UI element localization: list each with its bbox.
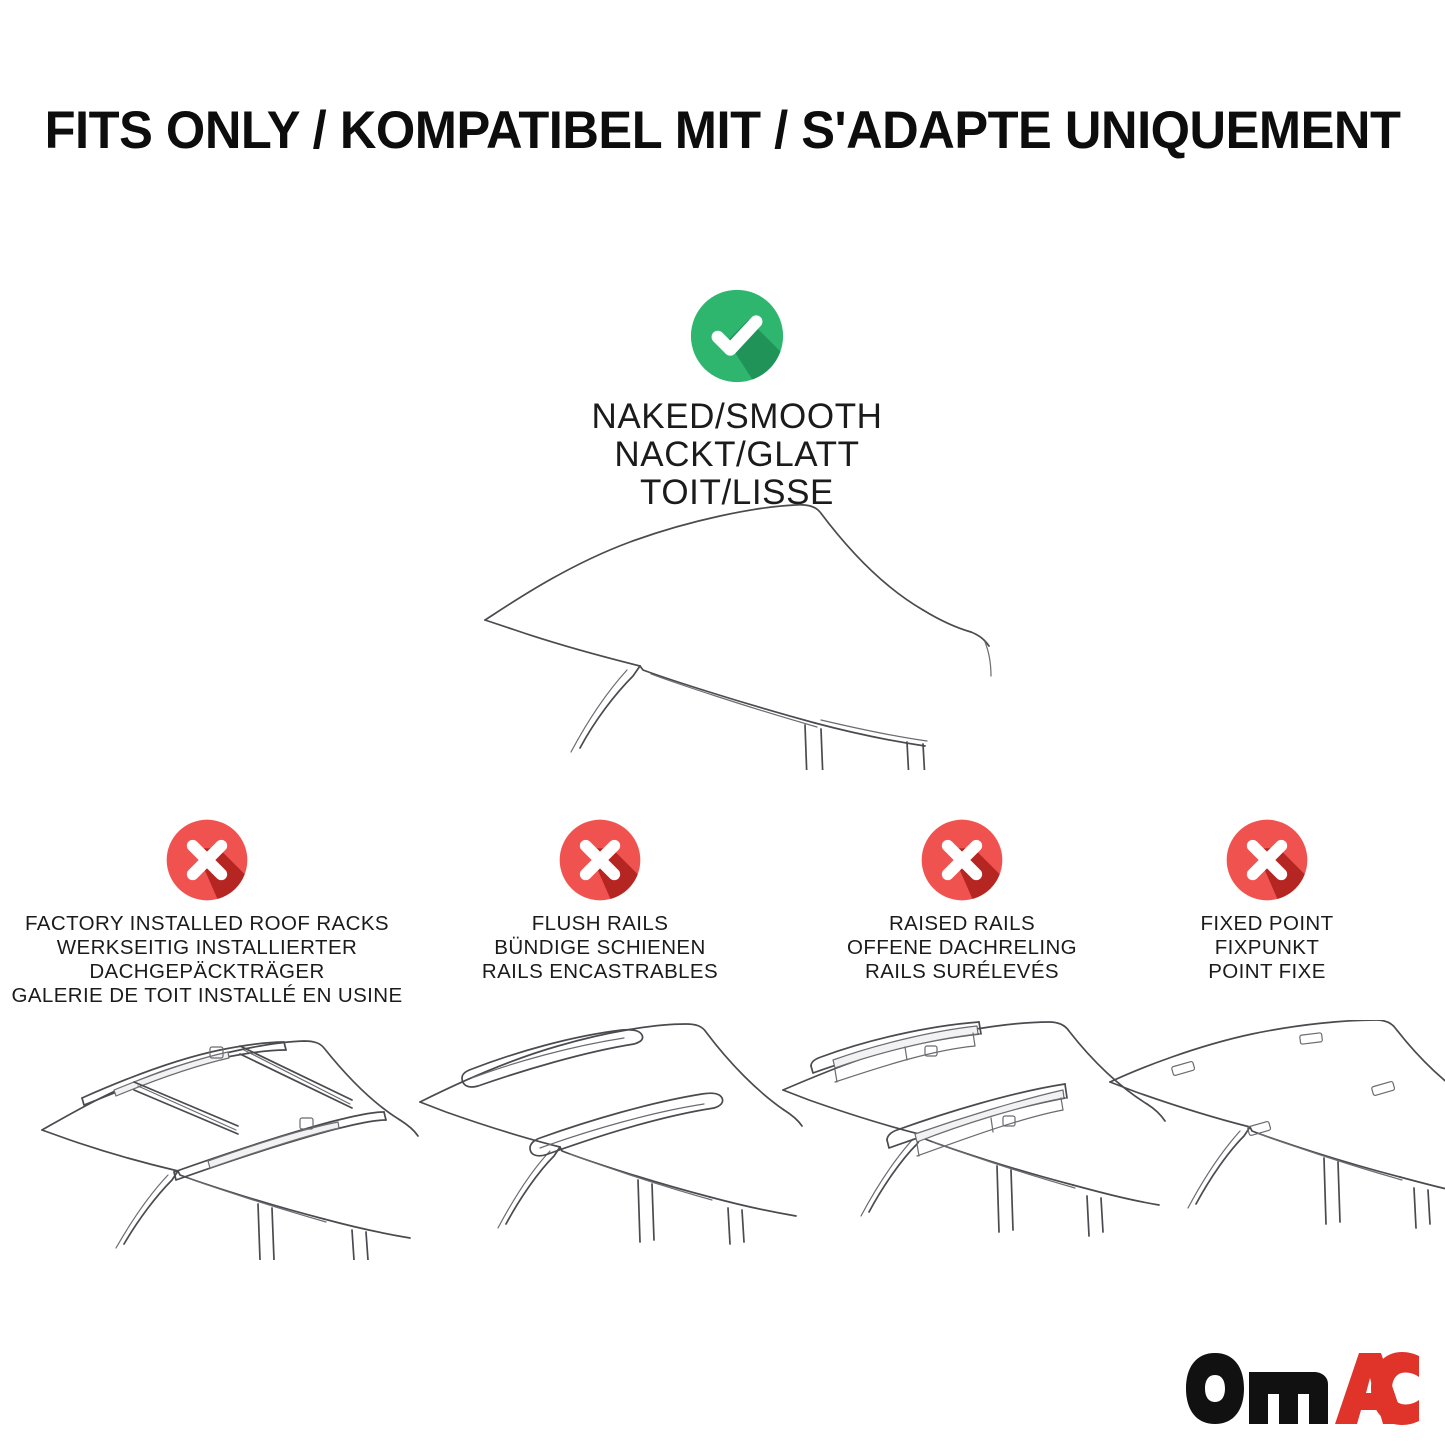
- incompatible-labels: FLUSH RAILS BÜNDIGE SCHIENEN RAILS ENCAS…: [400, 912, 800, 984]
- car-roof-flush-rails-illustration: [410, 1020, 810, 1260]
- incompatible-label-en: FIXED POINT: [1067, 912, 1445, 936]
- car-roof-naked-smooth-illustration: [455, 480, 1025, 770]
- incompatible-labels: FIXED POINT FIXPUNKT POINT FIXE: [1067, 912, 1445, 984]
- incompatible-label-fr: RAILS ENCASTRABLES: [400, 960, 800, 984]
- incompatible-label-fr: POINT FIXE: [1067, 960, 1445, 984]
- omac-logo: [1185, 1352, 1420, 1426]
- incompatible-label-de: BÜNDIGE SCHIENEN: [400, 936, 800, 960]
- compatible-roof-type-block: NAKED/SMOOTH NACKT/GLATT TOIT/LISSE: [487, 288, 987, 512]
- incompatible-label-de: WERKSEITIG INSTALLIERTER DACHGEPÄCKTRÄGE…: [7, 936, 407, 984]
- incompatible-labels: FACTORY INSTALLED ROOF RACKS WERKSEITIG …: [7, 912, 407, 1008]
- cross-circle-icon: [920, 818, 1004, 902]
- car-roof-fixed-point-illustration: [1100, 1020, 1445, 1260]
- compatible-label-en: NAKED/SMOOTH: [487, 398, 987, 436]
- incompatible-label-en: FLUSH RAILS: [400, 912, 800, 936]
- incompatible-label-de: FIXPUNKT: [1067, 936, 1445, 960]
- incompatible-roof-type-block-factory-installed-roof-racks: FACTORY INSTALLED ROOF RACKS WERKSEITIG …: [7, 818, 407, 1008]
- incompatible-roof-type-block-fixed-point: FIXED POINT FIXPUNKT POINT FIXE: [1067, 818, 1445, 984]
- car-roof-factory-roof-racks-illustration: [22, 1020, 422, 1260]
- page-title: FITS ONLY / KOMPATIBEL MIT / S'ADAPTE UN…: [33, 101, 1413, 161]
- incompatible-roof-type-block-flush-rails: FLUSH RAILS BÜNDIGE SCHIENEN RAILS ENCAS…: [400, 818, 800, 984]
- cross-circle-icon: [558, 818, 642, 902]
- incompatible-label-fr: GALERIE DE TOIT INSTALLÉ EN USINE: [7, 984, 407, 1008]
- cross-circle-icon: [1225, 818, 1309, 902]
- cross-circle-icon: [165, 818, 249, 902]
- incompatible-label-en: FACTORY INSTALLED ROOF RACKS: [7, 912, 407, 936]
- check-circle-icon: [689, 288, 785, 384]
- compatible-label-de: NACKT/GLATT: [487, 436, 987, 474]
